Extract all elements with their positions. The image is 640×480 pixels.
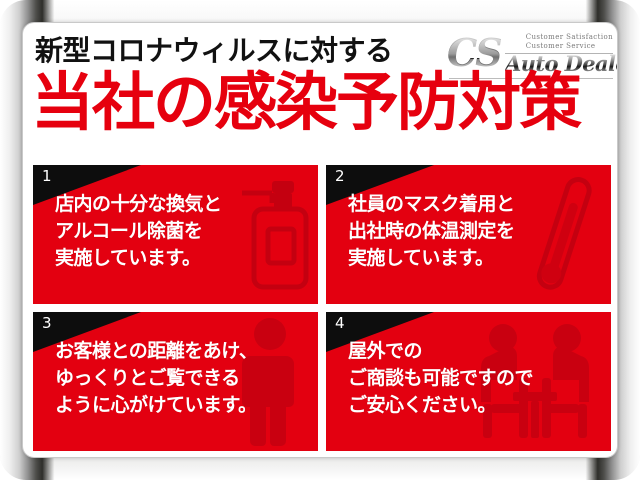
hand-sanitizer-bottle-icon	[228, 171, 312, 293]
logo-taglines: Customer Satisfaction Customer Service	[526, 33, 613, 51]
measures-grid: 1 店内の十分な換気と アルコール除菌を 実施しています。 2	[33, 165, 611, 451]
measure-panel-1: 1 店内の十分な換気と アルコール除菌を 実施しています。	[33, 165, 318, 304]
panel-number: 2	[335, 167, 345, 185]
logo-tagline-line1: Customer Satisfaction	[526, 33, 613, 42]
panel-text: 店内の十分な換気と アルコール除菌を 実施しています。	[55, 191, 222, 272]
panel-text: 社員のマスク着用と 出社時の体温測定を 実施しています。	[348, 191, 515, 272]
covid-prevention-poster: 新型コロナウィルスに対する Customer Satisfaction Cust…	[0, 0, 640, 480]
panel-number: 3	[42, 314, 52, 332]
panel-text: 屋外での ご商談も可能ですので ご安心ください。	[348, 338, 533, 419]
thermometer-icon	[523, 171, 603, 297]
measure-panel-3: 3 お客様との距離をあけ、 ゆっくりとご覧できる ように心がけています。	[33, 312, 318, 451]
poster-main-title: 当社の感染予防対策	[31, 71, 611, 134]
poster-board: 新型コロナウィルスに対する Customer Satisfaction Cust…	[22, 22, 618, 458]
poster-subtitle: 新型コロナウィルスに対する	[35, 37, 393, 65]
measure-panel-4: 4	[326, 312, 611, 451]
panel-text: お客様との距離をあけ、 ゆっくりとご覧できる ように心がけています。	[55, 338, 257, 419]
poster-header: 新型コロナウィルスに対する Customer Satisfaction Cust…	[23, 23, 618, 163]
panel-number: 1	[42, 167, 52, 185]
measure-panel-2: 2 社員のマスク着用と 出社時の体温測定を 実施しています。	[326, 165, 611, 304]
panel-number: 4	[335, 314, 345, 332]
logo-tagline-line2: Customer Service	[526, 42, 613, 51]
